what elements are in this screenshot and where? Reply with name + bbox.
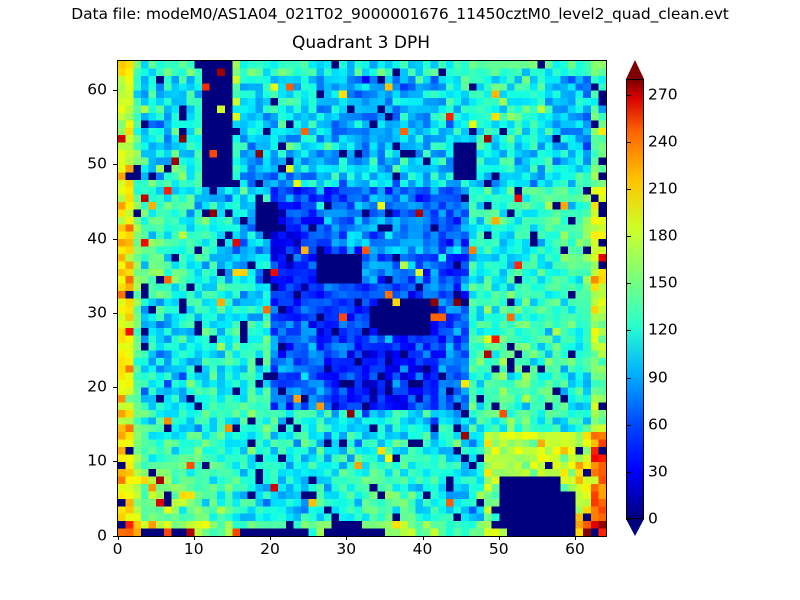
colorbar-tick-mark <box>626 236 631 237</box>
y-axis-tick-label: 60 <box>65 82 107 99</box>
colorbar-under-range-arrow-icon <box>626 519 644 536</box>
colorbar-tick-label: 90 <box>648 369 668 386</box>
y-axis-tick-mark <box>113 239 117 240</box>
x-axis-tick-label: 10 <box>184 541 204 558</box>
x-axis-tick-label: 50 <box>489 541 509 558</box>
y-axis-tick-mark <box>113 313 117 314</box>
colorbar-tick-label: 210 <box>648 181 678 198</box>
y-axis-tick-mark <box>113 164 117 165</box>
colorbar-tick-label: 240 <box>648 133 678 150</box>
colorbar-gradient <box>626 79 644 519</box>
colorbar-tick-label: 0 <box>648 511 658 528</box>
colorbar <box>626 60 644 535</box>
y-axis-tick-label: 40 <box>65 230 107 247</box>
y-axis-tick-label: 50 <box>65 156 107 173</box>
colorbar-tick-label: 180 <box>648 228 678 245</box>
page-title: Quadrant 3 DPH <box>117 33 605 54</box>
colorbar-tick-mark <box>626 472 631 473</box>
colorbar-tick-label: 120 <box>648 322 678 339</box>
heatmap-axes <box>117 60 607 537</box>
x-axis-tick-label: 60 <box>565 541 585 558</box>
colorbar-tick-mark <box>626 95 631 96</box>
colorbar-tick-mark <box>626 425 631 426</box>
y-axis-tick-label: 20 <box>65 379 107 396</box>
y-axis-tick-label: 10 <box>65 453 107 470</box>
x-axis-tick-label: 20 <box>260 541 280 558</box>
colorbar-tick-mark <box>626 142 631 143</box>
y-axis-tick-mark <box>113 90 117 91</box>
y-axis-tick-mark <box>113 536 117 537</box>
figure-canvas: Data file: modeM0/AS1A04_021T02_90000016… <box>0 0 800 600</box>
colorbar-tick-label: 150 <box>648 275 678 292</box>
colorbar-tick-label: 270 <box>648 86 678 103</box>
colorbar-tick-label: 30 <box>648 463 668 480</box>
y-axis-tick-mark <box>113 461 117 462</box>
colorbar-tick-mark <box>626 189 631 190</box>
y-axis-tick-label: 0 <box>65 527 107 544</box>
heatmap-image <box>118 61 606 536</box>
y-axis-tick-label: 30 <box>65 304 107 321</box>
x-axis-tick-label: 30 <box>336 541 356 558</box>
colorbar-tick-mark <box>626 519 631 520</box>
colorbar-tick-label: 60 <box>648 416 668 433</box>
colorbar-tick-mark <box>626 330 631 331</box>
data-file-label: Data file: modeM0/AS1A04_021T02_90000016… <box>0 5 800 24</box>
x-axis-tick-label: 0 <box>113 541 123 558</box>
x-axis-tick-label: 40 <box>413 541 433 558</box>
colorbar-tick-mark <box>626 378 631 379</box>
colorbar-tick-mark <box>626 283 631 284</box>
colorbar-over-range-arrow-icon <box>626 60 644 79</box>
y-axis-tick-mark <box>113 387 117 388</box>
